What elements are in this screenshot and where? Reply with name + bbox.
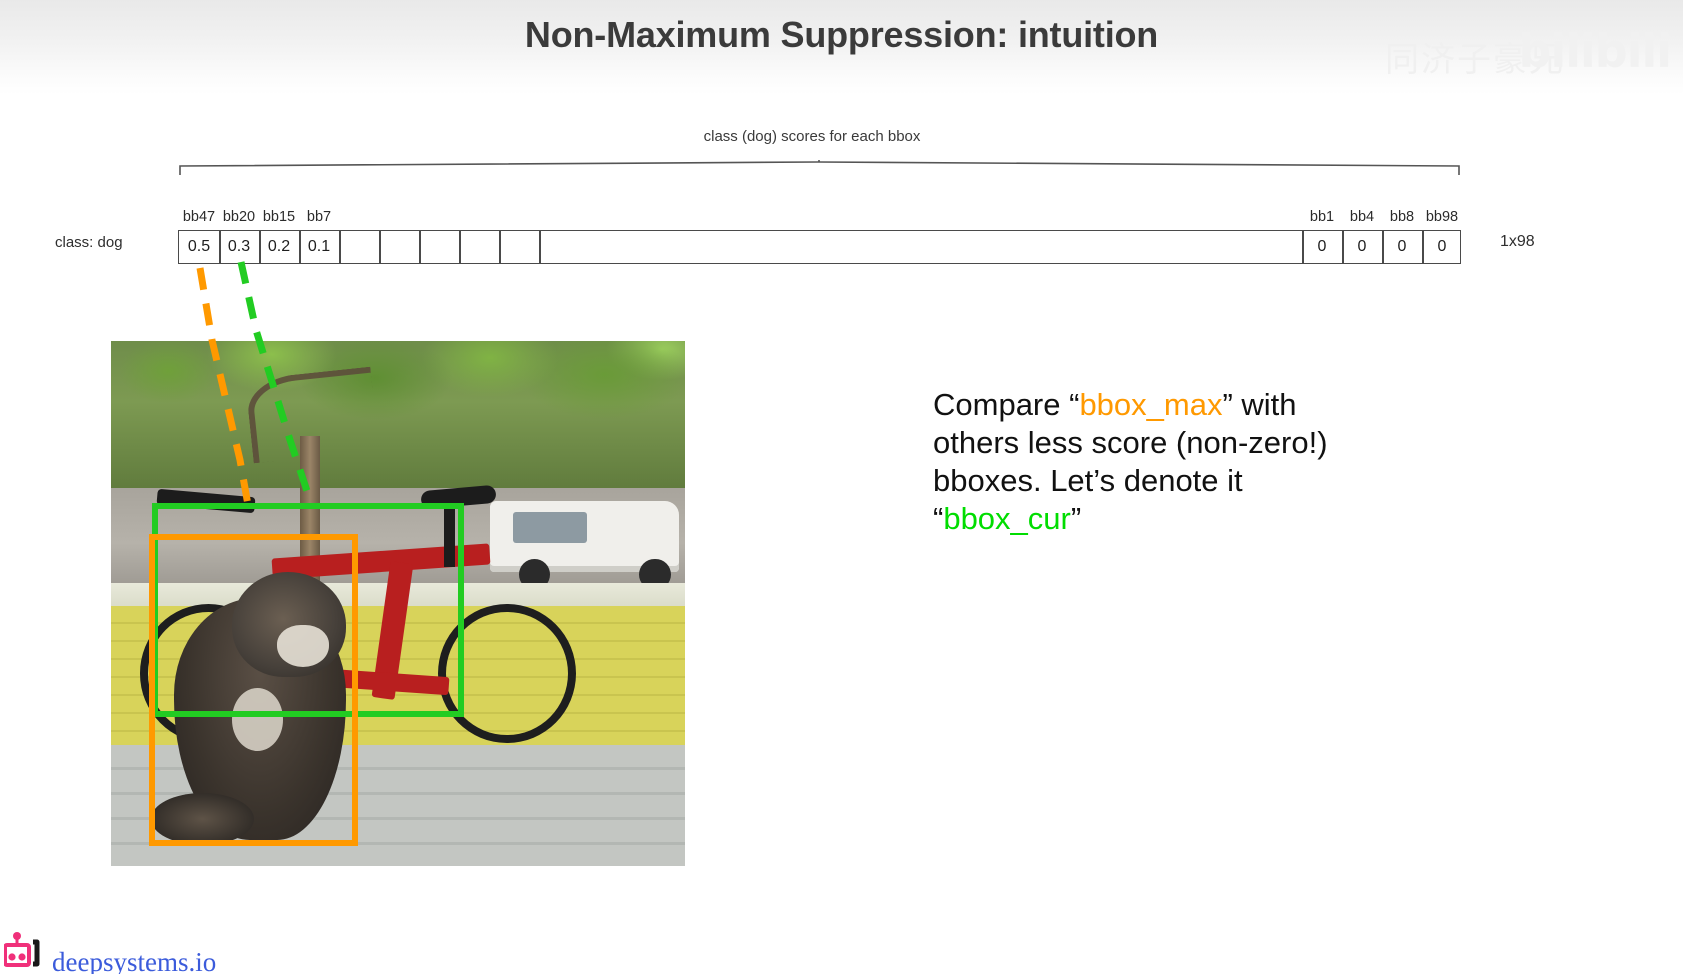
robot-icon — [4, 932, 46, 972]
deepsystems-logo[interactable]: deepsystems.io — [4, 930, 216, 972]
slide-canvas: Non-Maximum Suppression: intuition 同济子豪兄… — [0, 0, 1683, 974]
logo-text: deepsystems.io — [52, 949, 216, 974]
bbox-max-orange-rectangle — [149, 534, 358, 846]
